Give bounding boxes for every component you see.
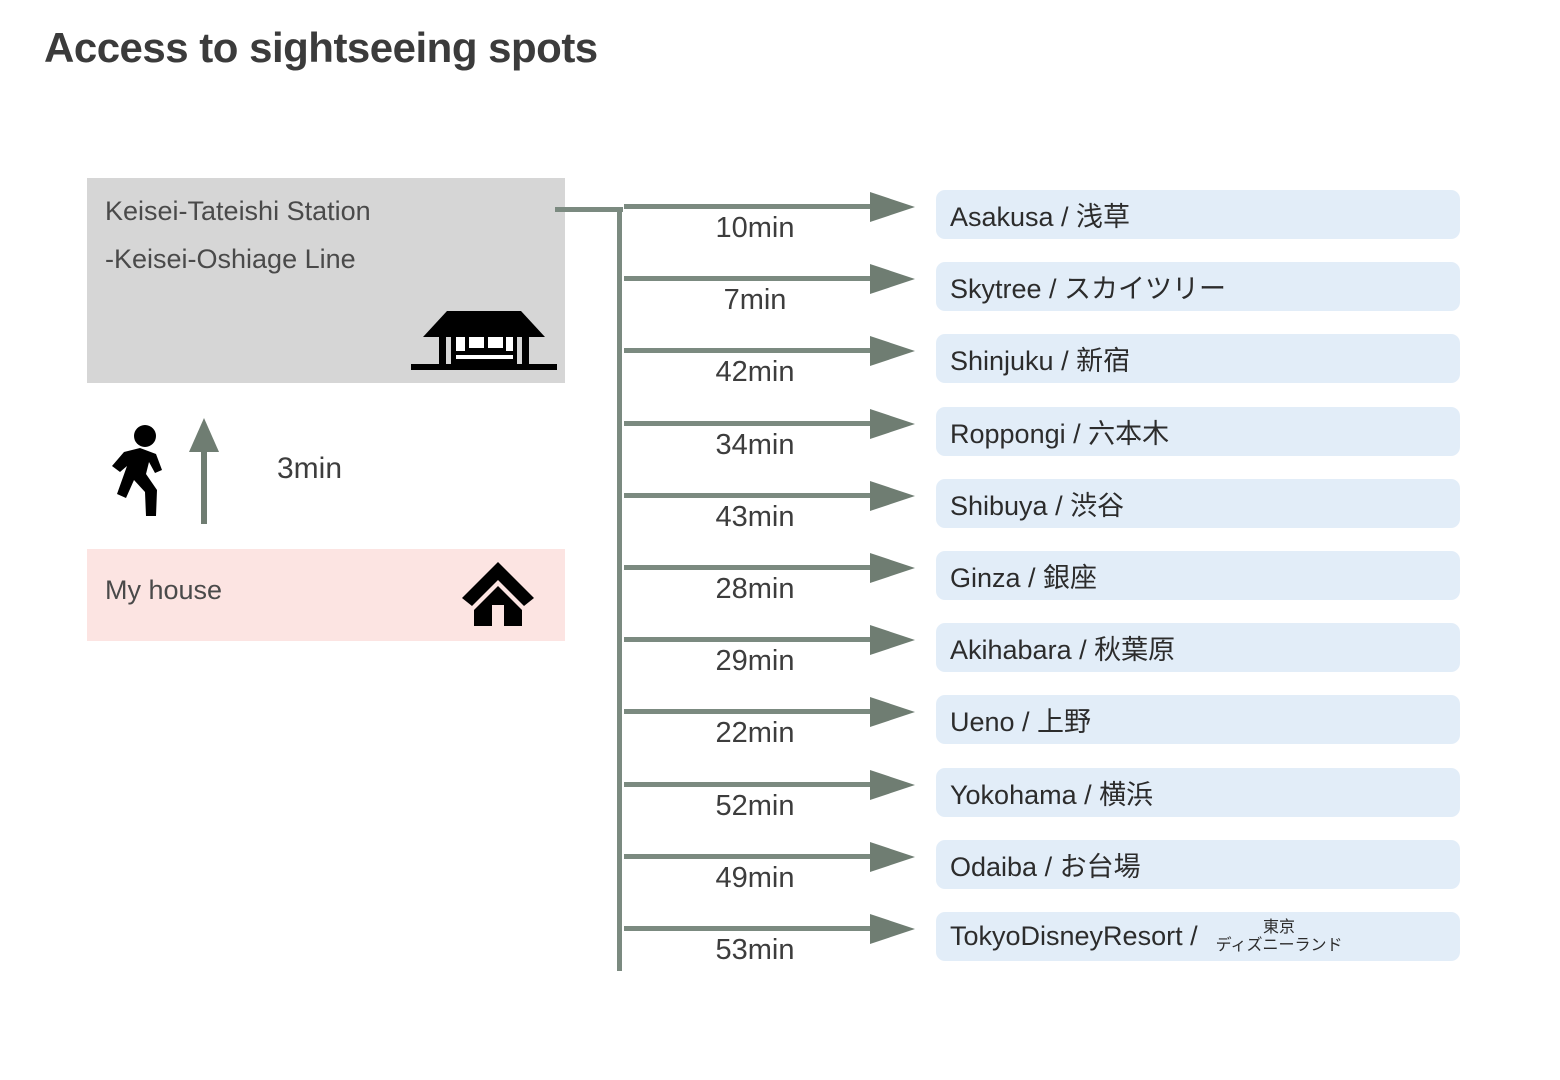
destination-pill-4[interactable]: Shibuya / 渋谷	[936, 479, 1460, 528]
destination-label-1: Skytree / スカイツリー	[936, 267, 1226, 306]
destination-pill-7[interactable]: Ueno / 上野	[936, 695, 1460, 744]
destination-pill-0[interactable]: Asakusa / 浅草	[936, 190, 1460, 239]
destination-label-5: Ginza / 銀座	[936, 556, 1097, 595]
destination-label-0: Asakusa / 浅草	[936, 195, 1130, 234]
destination-label-7: Ueno / 上野	[936, 700, 1091, 739]
destination-label-8: Yokohama / 横浜	[936, 773, 1153, 812]
destination-label-4: Shibuya / 渋谷	[936, 484, 1124, 523]
destination-pill-3[interactable]: Roppongi / 六本木	[936, 407, 1460, 456]
destination-label-10: TokyoDisneyResort /	[936, 921, 1198, 952]
destination-pill-2[interactable]: Shinjuku / 新宿	[936, 334, 1460, 383]
destination-pill-5[interactable]: Ginza / 銀座	[936, 551, 1460, 600]
destination-label-9: Odaiba / お台場	[936, 845, 1141, 884]
train-station-icon	[409, 303, 559, 373]
destination-pill-1[interactable]: Skytree / スカイツリー	[936, 262, 1460, 311]
destination-label-6: Akihabara / 秋葉原	[936, 628, 1175, 667]
up-arrow-icon	[186, 416, 222, 526]
route-trunk-line	[555, 195, 935, 985]
station-line-name: -Keisei-Oshiage Line	[105, 244, 356, 275]
walking-person-icon	[110, 424, 172, 524]
my-house-box: My house	[87, 549, 565, 641]
destination-label-2: Shinjuku / 新宿	[936, 339, 1130, 378]
page-title: Access to sightseeing spots	[44, 24, 598, 72]
destination-pill-8[interactable]: Yokohama / 横浜	[936, 768, 1460, 817]
my-house-label: My house	[105, 575, 222, 606]
destination-label-3: Roppongi / 六本木	[936, 412, 1169, 451]
destination-sublabel-10: 東京ディズニーランド	[1216, 919, 1343, 955]
destination-pill-6[interactable]: Akihabara / 秋葉原	[936, 623, 1460, 672]
station-name-line1: Keisei-Tateishi Station	[105, 196, 371, 227]
walk-duration: 3min	[277, 452, 342, 486]
destination-pill-9[interactable]: Odaiba / お台場	[936, 840, 1460, 889]
station-box: Keisei-Tateishi Station -Keisei-Oshiage …	[87, 178, 565, 383]
destination-pill-10[interactable]: TokyoDisneyResort / 東京ディズニーランド	[936, 912, 1460, 961]
house-icon	[462, 560, 534, 628]
